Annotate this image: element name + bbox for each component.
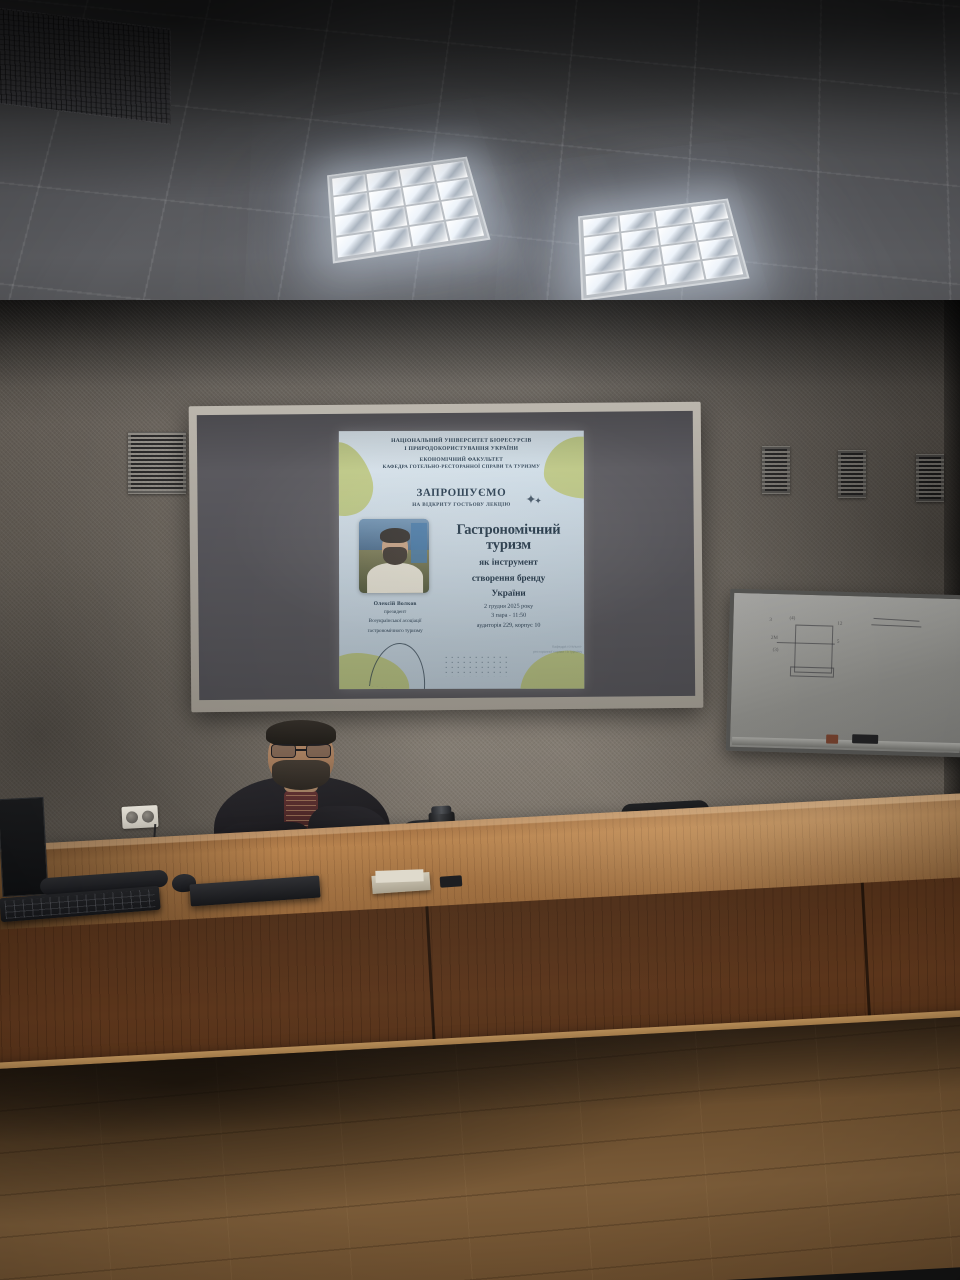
decorative-curve-line	[369, 640, 429, 689]
slide-title-block: Гастрономічний туризм як інструмент ство…	[439, 523, 578, 599]
speaker-role-line-2: Всеукраїнської асоціації	[349, 618, 441, 626]
speaker-beard	[272, 760, 330, 790]
title-main-line-1: Гастрономічний	[439, 523, 578, 538]
socket-port-left	[126, 811, 139, 824]
whiteboard-mark-4: (3)	[773, 648, 779, 653]
ceiling-shading	[0, 0, 960, 330]
decorative-blob-bottom-right	[520, 651, 584, 689]
whiteboard-mark-2: (4)	[789, 616, 795, 621]
speaker-caption: Олексій Волков президент Всеукраїнської …	[349, 601, 441, 635]
speaker-portrait	[359, 519, 429, 593]
whiteboard-mark-6: 5	[837, 640, 840, 645]
mobile-phone	[440, 875, 463, 888]
glasses-bridge	[296, 749, 306, 751]
watermark-line-2: ресторанної справи та туризму	[508, 650, 582, 655]
eraser-icon	[852, 734, 878, 744]
speaker-role-line-1: президент	[349, 609, 441, 617]
ceiling	[0, 0, 960, 330]
title-sub-line-3: України	[439, 588, 578, 599]
slide-watermark: Кафедра готельно- ресторанної справи та …	[508, 645, 582, 655]
lecture-hall-photo: Слайд 1 з 1 Українська Нотатки 100% ✦✦ Н…	[0, 0, 960, 1280]
slide-org-header: НАЦІОНАЛЬНИЙ УНІВЕРСИТЕТ БІОРЕСУРСІВ І П…	[339, 437, 584, 471]
paper-sheet	[375, 869, 423, 883]
whiteboard-surface	[730, 593, 960, 753]
event-date: 2 грудня 2025 року	[439, 603, 578, 613]
portrait-body	[367, 563, 423, 593]
thermos-cap	[431, 806, 451, 815]
speaker-name: Олексій Волков	[349, 601, 441, 607]
glasses-lens-right	[306, 744, 331, 758]
projection-screen: Слайд 1 з 1 Українська Нотатки 100% ✦✦ Н…	[189, 402, 704, 712]
projected-slide: Слайд 1 з 1 Українська Нотатки 100% ✦✦ Н…	[339, 431, 584, 689]
title-sub-line-1: як інструмент	[439, 557, 578, 568]
invite-headline: ЗАПРОШУЄМО	[339, 487, 584, 499]
glasses-icon	[270, 744, 332, 758]
marker-icon	[826, 734, 838, 743]
glasses-lens-left	[271, 744, 296, 758]
event-venue: аудиторія 229, корпус 10	[439, 622, 578, 632]
speaker-hair	[266, 720, 336, 746]
whiteboard-mark-3: 2M	[771, 636, 778, 641]
org-line-2: І ПРИРОДОКОРИСТУВАННЯ УКРАЇНИ	[339, 445, 584, 454]
org-department: КАФЕДРА ГОТЕЛЬНО-РЕСТОРАННОЇ СПРАВИ ТА Т…	[339, 465, 584, 470]
portrait-background-panel	[411, 523, 427, 563]
portrait-hair	[380, 528, 410, 543]
title-sub-line-2: створення бренду	[439, 572, 578, 583]
invite-subline: НА ВІДКРИТУ ГОСТЬОВУ ЛЕКЦІЮ	[339, 502, 584, 508]
org-faculty: ЕКОНОМІЧНИЙ ФАКУЛЬТЕТ	[339, 457, 584, 463]
whiteboard: 3 (4) 2M (3) 12 5	[726, 589, 960, 758]
whiteboard-sketch-base	[790, 666, 834, 677]
whiteboard-mark-1: 3	[769, 618, 772, 623]
slide-event-details: 2 грудня 2025 року 3 пара - 11:50 аудито…	[439, 603, 578, 632]
title-main-line-2: туризм	[439, 538, 578, 553]
speaker-role-line-3: гастрономічного туризму	[349, 628, 441, 636]
decorative-dot-grid	[443, 655, 509, 677]
whiteboard-mark-5: 12	[837, 622, 842, 627]
projection-screen-surface: Слайд 1 з 1 Українська Нотатки 100% ✦✦ Н…	[197, 411, 695, 700]
wall-socket-icon	[121, 805, 158, 829]
portrait-beard	[383, 547, 407, 565]
event-time: 3 пара - 11:50	[439, 612, 578, 622]
socket-port-right	[142, 810, 155, 823]
slide-invitation-block: ЗАПРОШУЄМО НА ВІДКРИТУ ГОСТЬОВУ ЛЕКЦІЮ	[339, 487, 584, 508]
